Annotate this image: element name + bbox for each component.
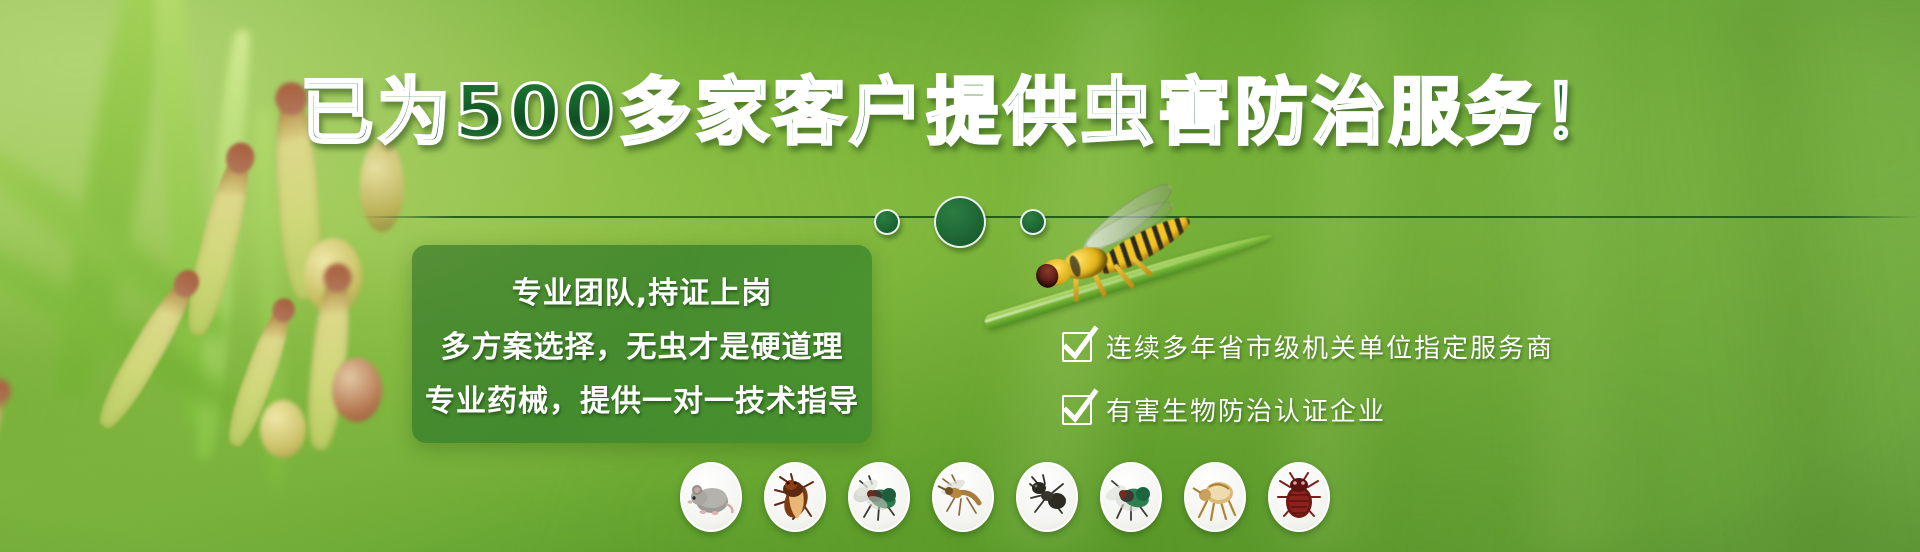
pest-control-banner: 已为500多家客户提供虫害防治服务！ 已为500多家客户提供虫害防治服务！ 专业… (0, 0, 1920, 552)
vignette-overlay (0, 0, 1920, 552)
